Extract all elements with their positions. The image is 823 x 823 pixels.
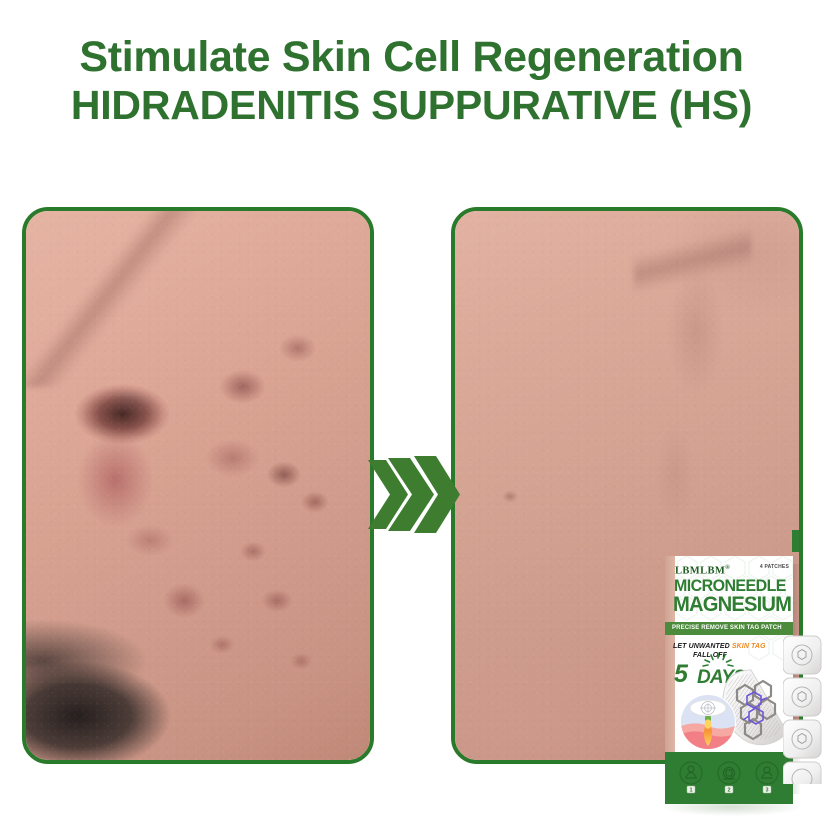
- product-package: LBMLBM® 4 PATCHES MICRONEEDLE MAGNESIUM …: [655, 546, 823, 823]
- headline-line-1: Stimulate Skin Cell Regeneration: [0, 34, 823, 80]
- brand-text: LBMLBM: [675, 566, 725, 577]
- patch-count-badge: 4 PATCHES: [760, 564, 789, 570]
- headline-line-2: HIDRADENITIS SUPPURATIVE (HS): [0, 80, 823, 131]
- product-banner-text: PRECISE REMOVE SKIN TAG PATCH: [672, 625, 782, 631]
- promo-graphic: Stimulate Skin Cell Regeneration HIDRADE…: [0, 0, 823, 823]
- tagline-highlight: SKIN TAG: [732, 643, 766, 650]
- package-spine-top: [792, 530, 799, 552]
- double-chevron-right-arrow-icon: [366, 452, 461, 537]
- brand-name: LBMLBM®: [675, 565, 730, 577]
- package-front-face: LBMLBM® 4 PATCHES MICRONEEDLE MAGNESIUM …: [665, 556, 793, 804]
- usage-steps-icons: 1 2 3: [665, 760, 793, 794]
- skin-cross-section-diagram-icon: [680, 694, 736, 750]
- package-bottom-band: 1 2 3: [665, 752, 793, 804]
- product-banner: PRECISE REMOVE SKIN TAG PATCH: [665, 622, 793, 635]
- tagline-prefix: LET UNWANTED: [673, 643, 732, 650]
- step-number-2: 2: [727, 788, 730, 794]
- duration-number: 5: [674, 662, 687, 687]
- before-photo-frame: [22, 207, 374, 764]
- product-name-line-2: MAGNESIUM: [673, 594, 791, 616]
- patch-blisters-graphic-icon: [783, 634, 823, 784]
- page-title: Stimulate Skin Cell Regeneration HIDRADE…: [0, 34, 823, 132]
- photo-grain-overlay: [26, 211, 370, 760]
- step-number-3: 3: [765, 788, 768, 794]
- step-number-1: 1: [689, 788, 692, 794]
- trademark-symbol: ®: [725, 565, 730, 571]
